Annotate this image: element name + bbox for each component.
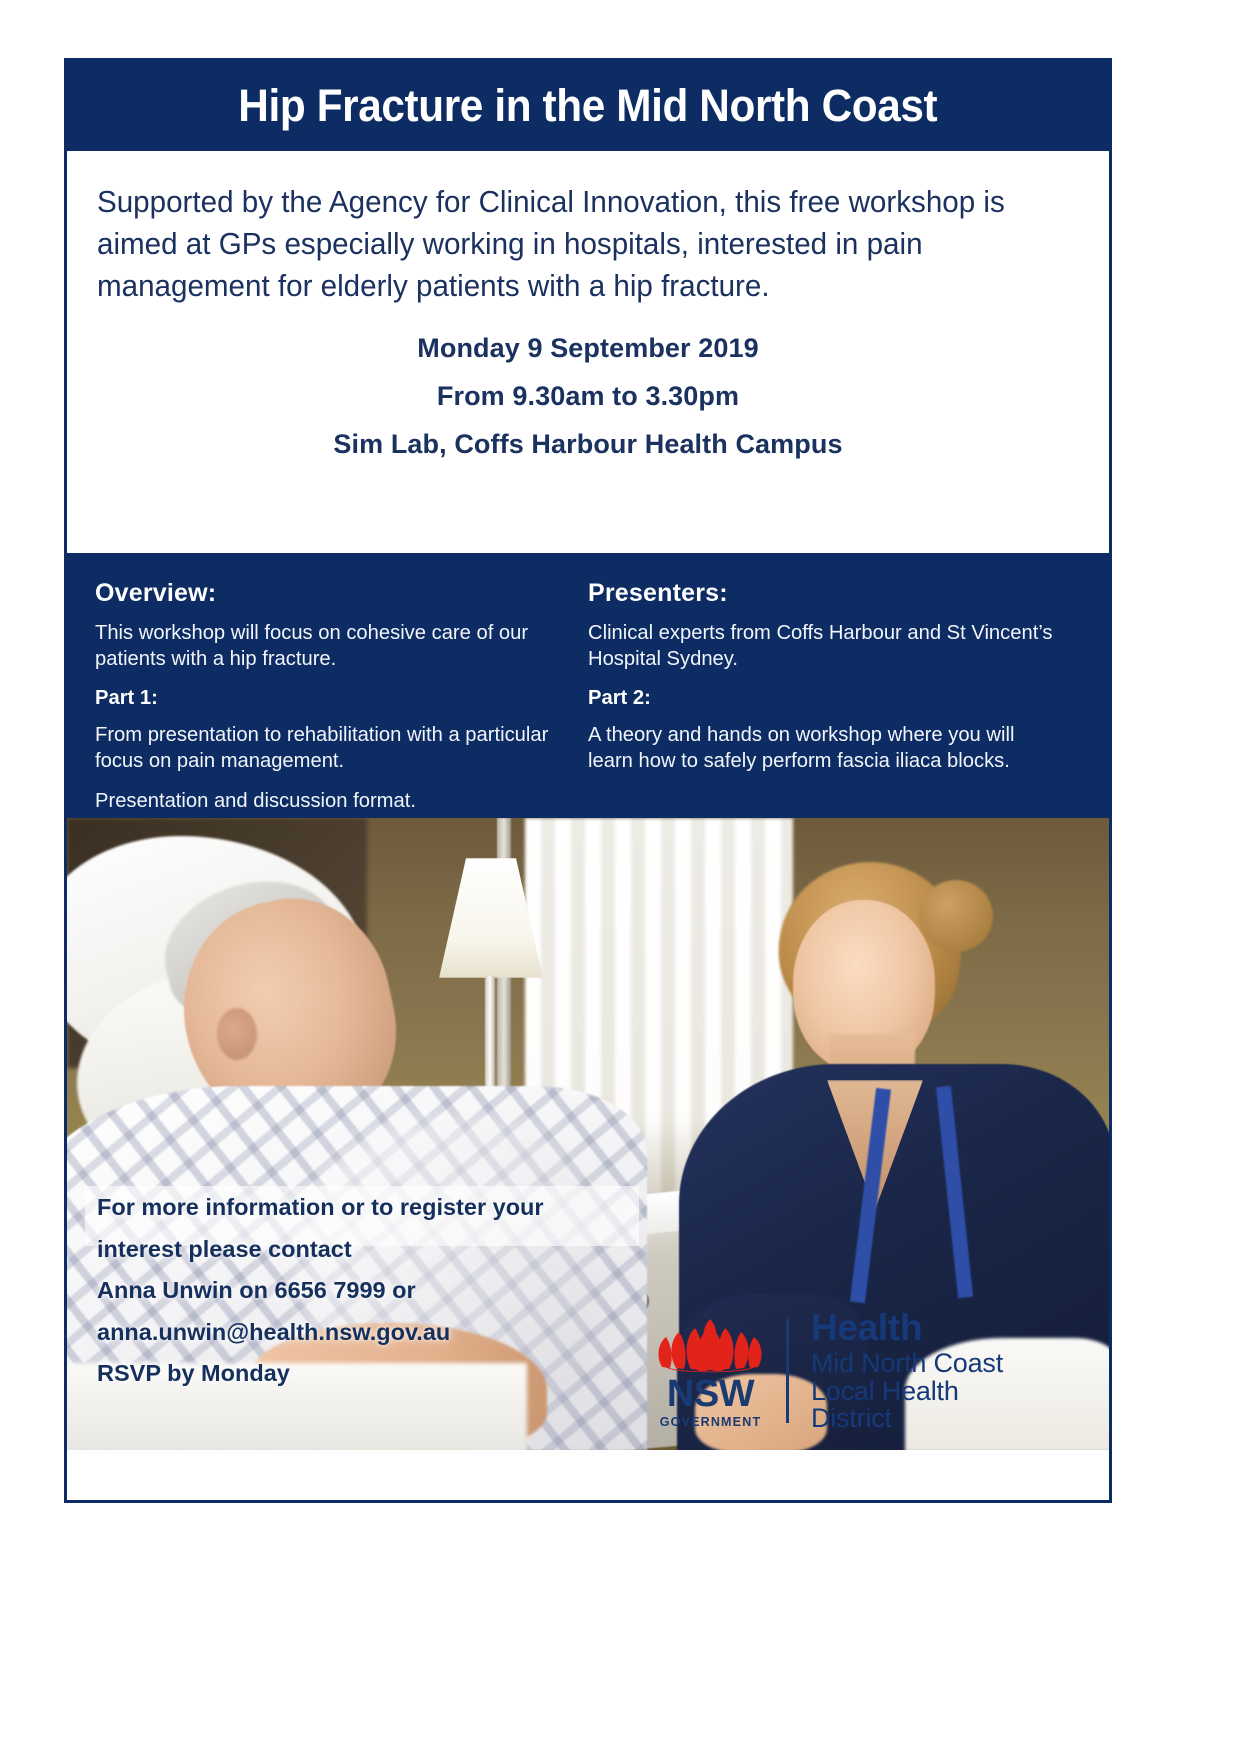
title-bar: Hip Fracture in the Mid North Coast [67,61,1109,151]
part2-label: Part 2: [588,687,1063,710]
overview-format: Presentation and discussion format. [95,788,570,814]
rsvp-line: RSVP by Monday [97,1362,657,1386]
event-time: From 9.30am to 3.30pm [97,381,1079,412]
hospital-photo: For more information or to register your… [67,818,1109,1450]
event-date: Monday 9 September 2019 [97,333,1079,364]
logo-health-lockup: Health Mid North Coast Local Health Dist… [811,1309,1045,1432]
logo-district-line-2: Local Health District [811,1378,1045,1433]
intro-panel: Supported by the Agency for Clinical Inn… [67,151,1109,553]
overview-heading: Overview: [95,579,570,608]
detail-panel: Overview: This workshop will focus on co… [67,553,1109,818]
part1-body: From presentation to rehabilitation with… [95,722,570,775]
logo-nsw-text: NSW [667,1376,754,1412]
photo-patient-ear [217,1008,257,1060]
presenters-column: Presenters: Clinical experts from Coffs … [588,579,1081,818]
logo-health-text: Health [811,1309,1045,1347]
nsw-government-lockup: NSW GOVERNMENT [645,1313,776,1429]
page-title: Hip Fracture in the Mid North Coast [239,80,938,132]
nsw-health-logo: NSW GOVERNMENT Health Mid North Coast Lo… [645,1308,1045,1434]
logo-divider [786,1319,789,1423]
presenters-body: Clinical experts from Coffs Harbour and … [588,620,1063,673]
part1-label: Part 1: [95,687,570,710]
contact-line-2: interest please contact [97,1238,657,1262]
photo-nurse-bun [919,880,993,952]
intro-paragraph: Supported by the Agency for Clinical Inn… [97,181,1023,307]
presenters-heading: Presenters: [588,579,1063,608]
poster: Hip Fracture in the Mid North Coast Supp… [64,58,1112,1503]
logo-government-text: GOVERNMENT [660,1415,762,1429]
contact-line-1: For more information or to register your [97,1196,657,1220]
logo-district-line-1: Mid North Coast [811,1350,1045,1378]
contact-phone: Anna Unwin on 6656 7999 or [97,1279,657,1303]
overview-column: Overview: This workshop will focus on co… [95,579,588,818]
waratah-icon [654,1313,766,1375]
contact-block: For more information or to register your… [97,1196,657,1386]
contact-email[interactable]: anna.unwin@health.nsw.gov.au [97,1321,657,1345]
event-venue: Sim Lab, Coffs Harbour Health Campus [97,429,1079,460]
overview-body: This workshop will focus on cohesive car… [95,620,570,673]
part2-body: A theory and hands on workshop where you… [588,722,1063,775]
